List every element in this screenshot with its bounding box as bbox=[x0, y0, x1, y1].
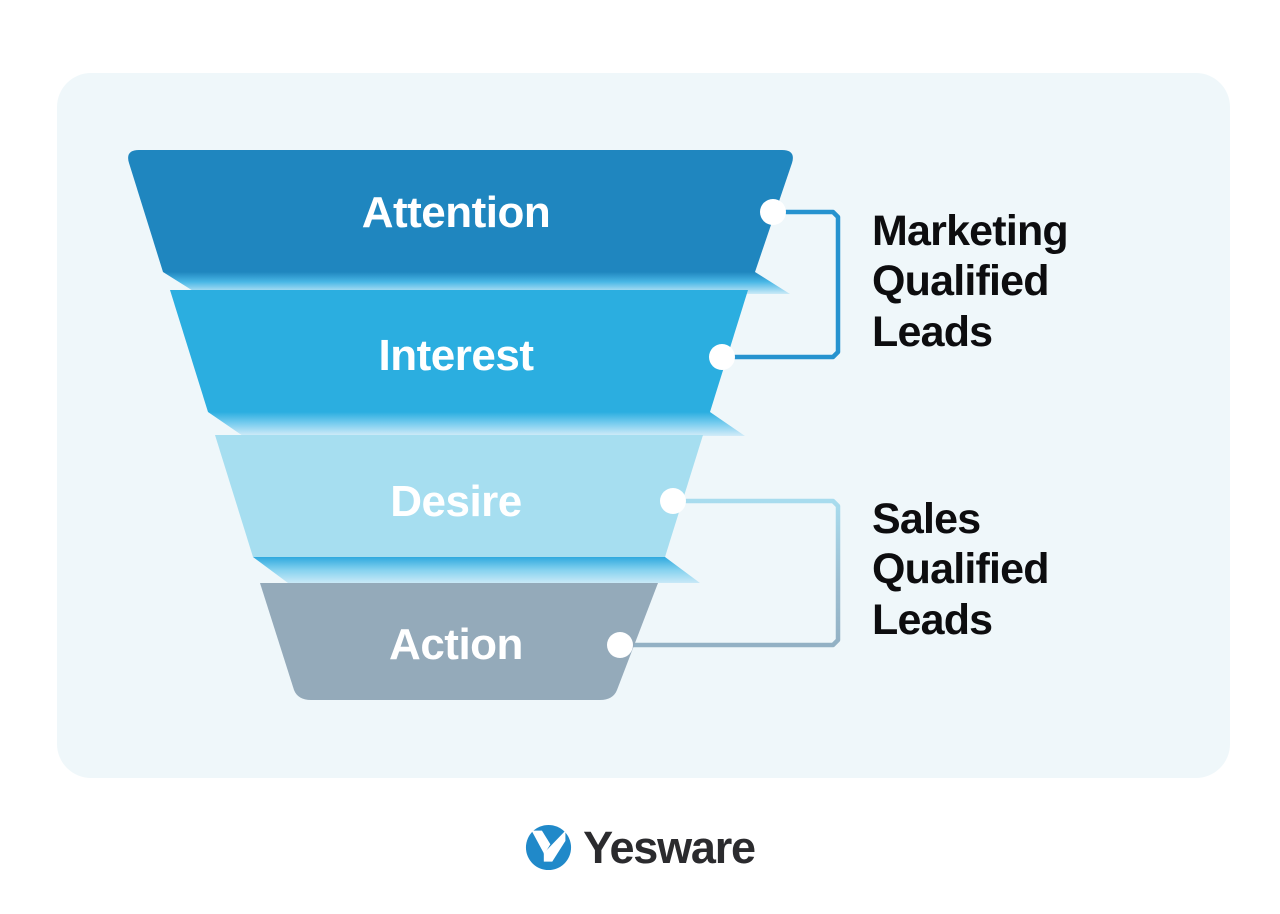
funnel-card-background bbox=[57, 73, 1230, 778]
yesware-wordmark: Yesware bbox=[583, 825, 755, 870]
funnel-label-desire: Desire bbox=[390, 480, 522, 524]
funnel-label-attention: Attention bbox=[362, 191, 551, 235]
annotation-marketing-qualified-leads: Marketing Qualified Leads bbox=[872, 206, 1068, 357]
funnel-label-interest: Interest bbox=[379, 334, 534, 378]
funnel-label-action: Action bbox=[389, 623, 523, 667]
yesware-y-circle-icon bbox=[525, 824, 572, 871]
annotation-sales-qualified-leads: Sales Qualified Leads bbox=[872, 494, 1049, 645]
yesware-logo: Yesware bbox=[0, 812, 1280, 882]
infographic-canvas: Attention Interest Desire Action Marketi… bbox=[0, 0, 1280, 914]
